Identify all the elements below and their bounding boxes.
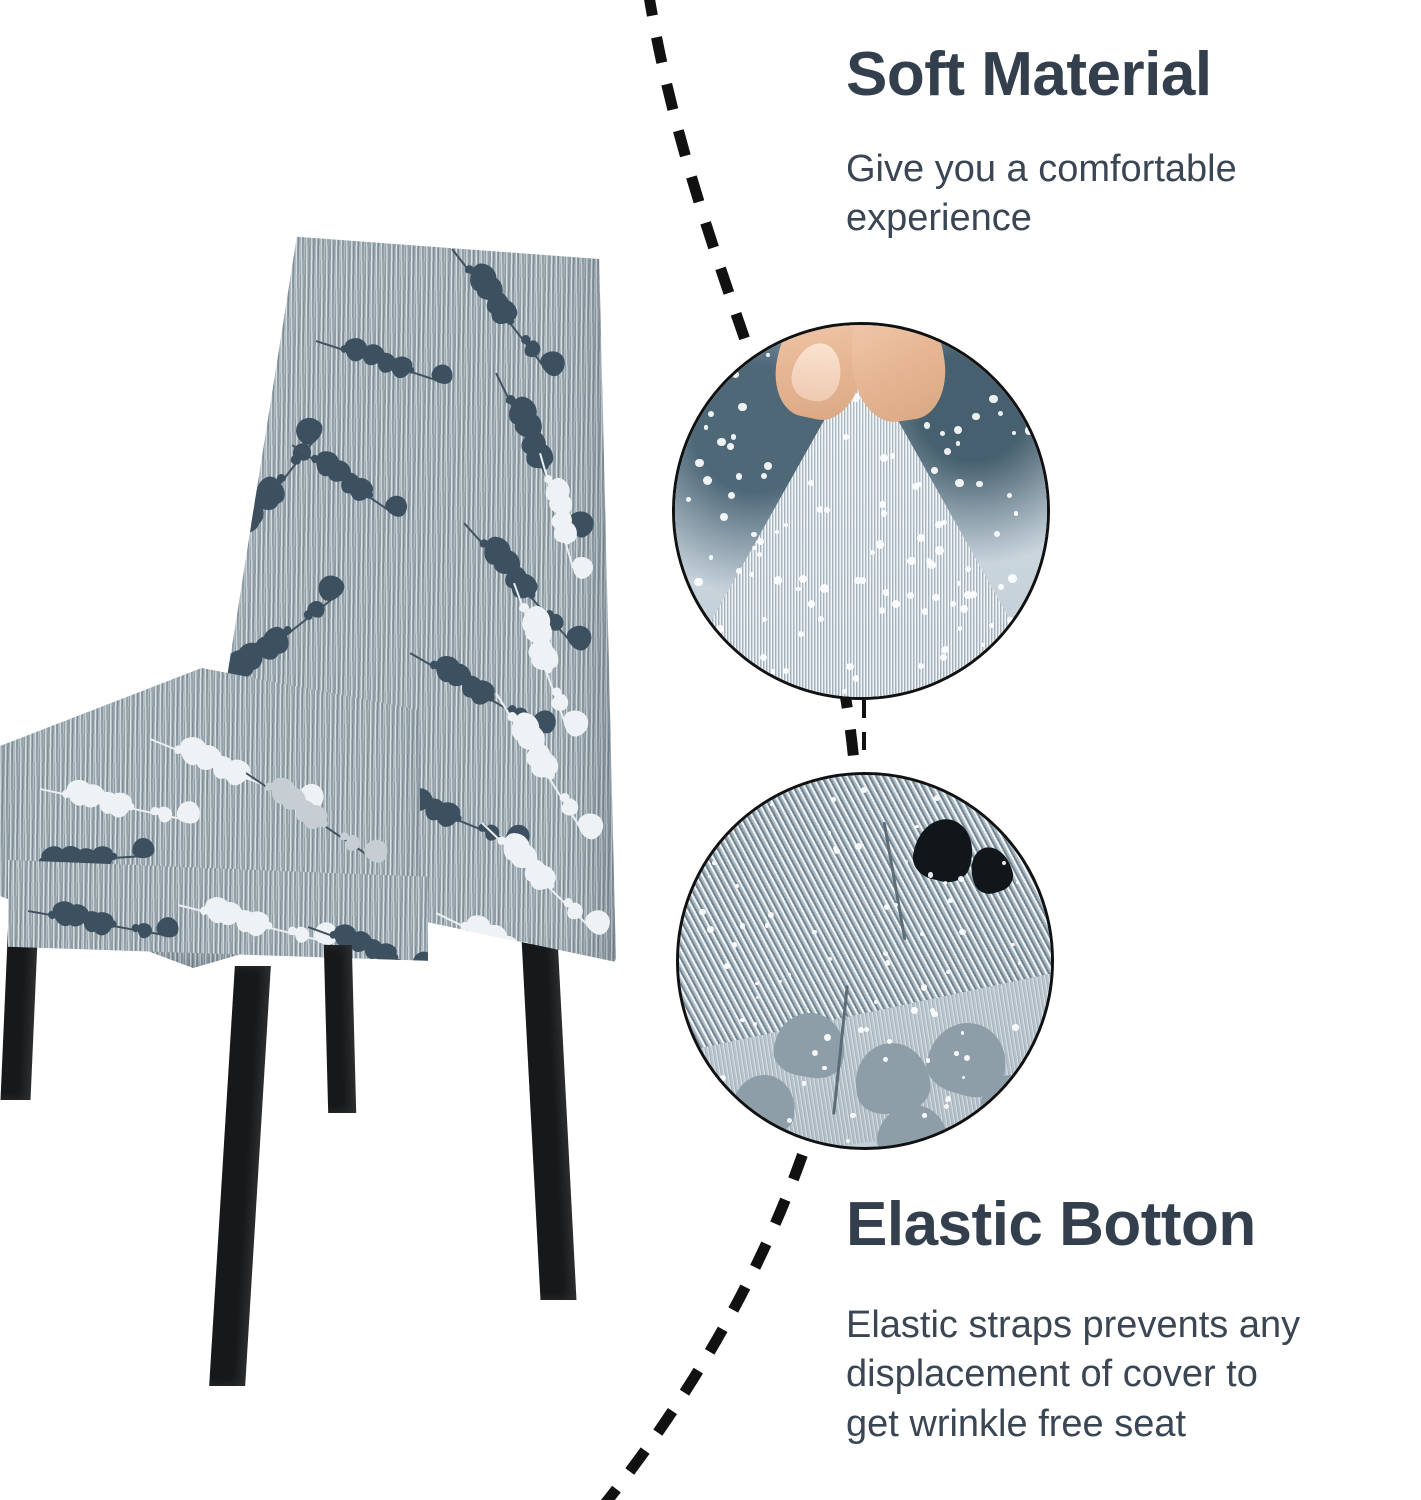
chair-leg-front-left (209, 966, 271, 1386)
detail-circle-soft-material (672, 322, 1050, 700)
chair-leg-back-right (520, 900, 577, 1300)
headline-elastic-bottom: Elastic Botton (846, 1192, 1406, 1257)
description-elastic-bottom: Elastic straps prevents any displacement… (846, 1301, 1406, 1449)
description-line-1: Elastic straps prevents any (846, 1304, 1300, 1346)
description-soft-material: Give you a comfortable experience (846, 145, 1386, 244)
description-line-3: get wrinkle free seat (846, 1403, 1186, 1445)
hem-dot-pattern (679, 775, 1051, 1147)
description-line-1: Give you a comfortable (846, 148, 1237, 190)
product-photo-chair (0, 200, 660, 1360)
feature-text-soft-material: Soft Material Give you a comfortable exp… (846, 42, 1386, 244)
headline-soft-material: Soft Material (846, 42, 1386, 107)
dashed-connector (862, 700, 866, 770)
description-line-2: displacement of cover to (846, 1353, 1258, 1395)
detail-circle-elastic-bottom (676, 772, 1054, 1150)
chair-seat-skirt (8, 860, 428, 1000)
description-line-2: experience (846, 197, 1032, 239)
chair-leg-front-right (324, 945, 356, 1113)
feature-text-elastic-bottom: Elastic Botton Elastic straps prevents a… (846, 1192, 1406, 1449)
infographic-canvas: Soft Material Give you a comfortable exp… (0, 0, 1421, 1500)
